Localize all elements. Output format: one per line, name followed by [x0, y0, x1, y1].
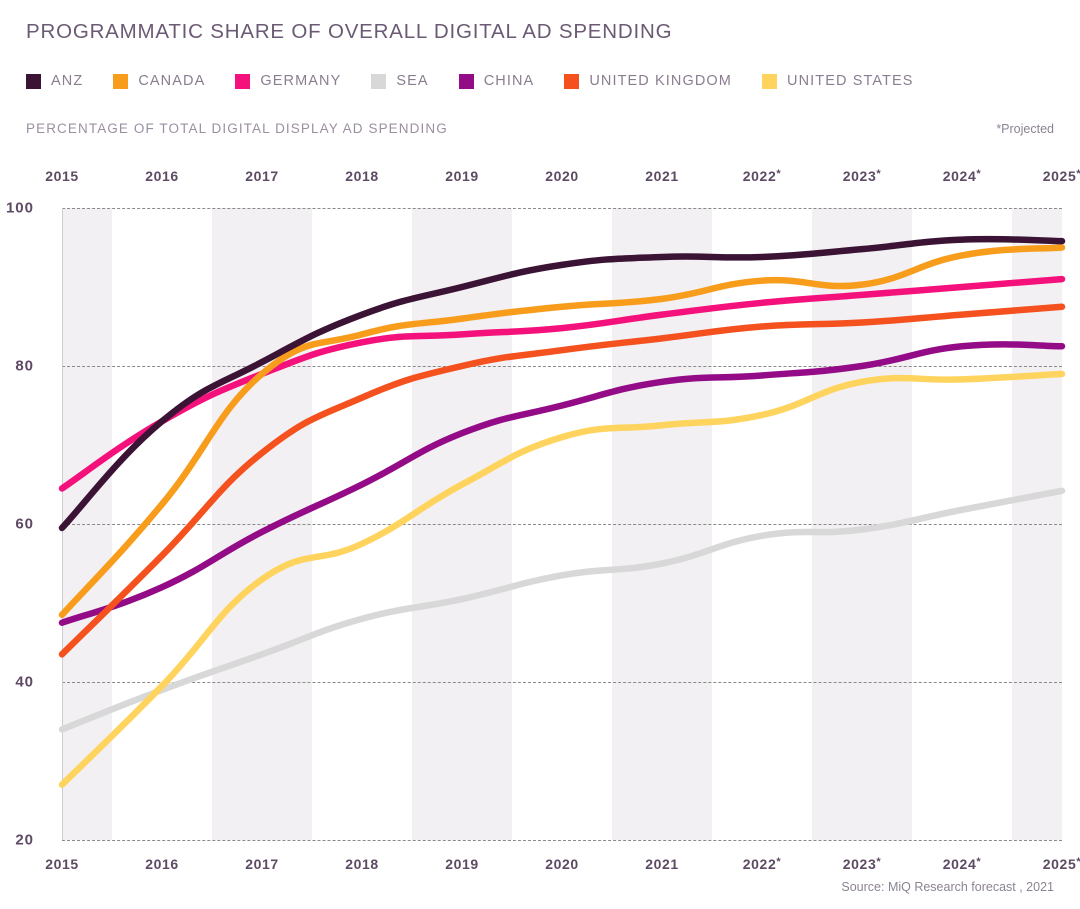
legend-item-label: CANADA	[138, 73, 205, 89]
x-axis-tick-label-bottom: 2016	[145, 856, 179, 872]
page-title: PROGRAMMATIC SHARE OF OVERALL DIGITAL AD…	[26, 20, 672, 44]
x-axis-tick-label-top: 2019	[445, 168, 479, 184]
legend-swatch-icon	[762, 74, 777, 89]
legend-item-label: SEA	[396, 73, 428, 89]
chart-subtitle: PERCENTAGE OF TOTAL DIGITAL DISPLAY AD S…	[26, 121, 448, 136]
x-axis-tick-label-top: 2021	[645, 168, 679, 184]
x-axis-tick-label-bottom: 2020	[545, 856, 579, 872]
legend-swatch-icon	[371, 74, 386, 89]
y-axis-tick-label: 60	[15, 516, 34, 533]
x-axis-tick-label-bottom: 2015	[45, 856, 79, 872]
series-line-united-kingdom	[62, 307, 1062, 655]
x-axis-tick-label-bottom: 2025*	[1043, 856, 1080, 872]
source-note: Source: MiQ Research forecast , 2021	[841, 880, 1054, 894]
legend-swatch-icon	[459, 74, 474, 89]
legend-swatch-icon	[26, 74, 41, 89]
legend-item-label: GERMANY	[260, 73, 341, 89]
x-axis-tick-label-bottom: 2018	[345, 856, 379, 872]
x-axis-tick-label-top: 2020	[545, 168, 579, 184]
legend-swatch-icon	[564, 74, 579, 89]
x-axis-tick-label-top: 2015	[45, 168, 79, 184]
series-line-sea	[62, 491, 1062, 730]
x-axis-bottom: 20152016201720182019202020212022*2023*20…	[0, 856, 1080, 878]
x-axis-tick-label-top: 2016	[145, 168, 179, 184]
gridline	[62, 840, 1062, 841]
projected-note: *Projected	[996, 122, 1054, 136]
x-axis-tick-label-top: 2022*	[743, 168, 781, 184]
chart-page: PROGRAMMATIC SHARE OF OVERALL DIGITAL AD…	[0, 0, 1080, 909]
x-axis-tick-label-top: 2018	[345, 168, 379, 184]
x-axis-tick-label-top: 2025*	[1043, 168, 1080, 184]
x-axis-tick-label-top: 2023*	[843, 168, 881, 184]
y-axis-tick-label: 20	[15, 832, 34, 849]
legend-item-label: CHINA	[484, 73, 535, 89]
x-axis-tick-label-bottom: 2019	[445, 856, 479, 872]
legend-item[interactable]: ANZ	[26, 73, 83, 89]
legend-item-label: UNITED KINGDOM	[589, 73, 732, 89]
series-lines	[62, 208, 1062, 840]
y-axis-tick-label: 80	[15, 358, 34, 375]
x-axis-tick-label-bottom: 2021	[645, 856, 679, 872]
series-line-anz	[62, 239, 1062, 528]
x-axis-tick-label-bottom: 2017	[245, 856, 279, 872]
x-axis-tick-label-top: 2024*	[943, 168, 981, 184]
x-axis-tick-label-bottom: 2024*	[943, 856, 981, 872]
legend-item[interactable]: CHINA	[459, 73, 535, 89]
plot-area: 20406080100	[62, 208, 1062, 840]
x-axis-tick-label-top: 2017	[245, 168, 279, 184]
x-axis-top: 20152016201720182019202020212022*2023*20…	[0, 168, 1080, 190]
legend-item[interactable]: GERMANY	[235, 73, 341, 89]
legend-swatch-icon	[235, 74, 250, 89]
x-axis-tick-label-bottom: 2022*	[743, 856, 781, 872]
legend-item[interactable]: CANADA	[113, 73, 205, 89]
legend-item-label: ANZ	[51, 73, 83, 89]
legend-item[interactable]: UNITED STATES	[762, 73, 914, 89]
legend-item[interactable]: SEA	[371, 73, 428, 89]
legend-swatch-icon	[113, 74, 128, 89]
y-axis-tick-label: 40	[15, 674, 34, 691]
y-axis-tick-label: 100	[6, 200, 34, 217]
legend-item-label: UNITED STATES	[787, 73, 914, 89]
x-axis-tick-label-bottom: 2023*	[843, 856, 881, 872]
chart-legend: ANZCANADAGERMANYSEACHINAUNITED KINGDOMUN…	[26, 70, 944, 92]
legend-item[interactable]: UNITED KINGDOM	[564, 73, 732, 89]
